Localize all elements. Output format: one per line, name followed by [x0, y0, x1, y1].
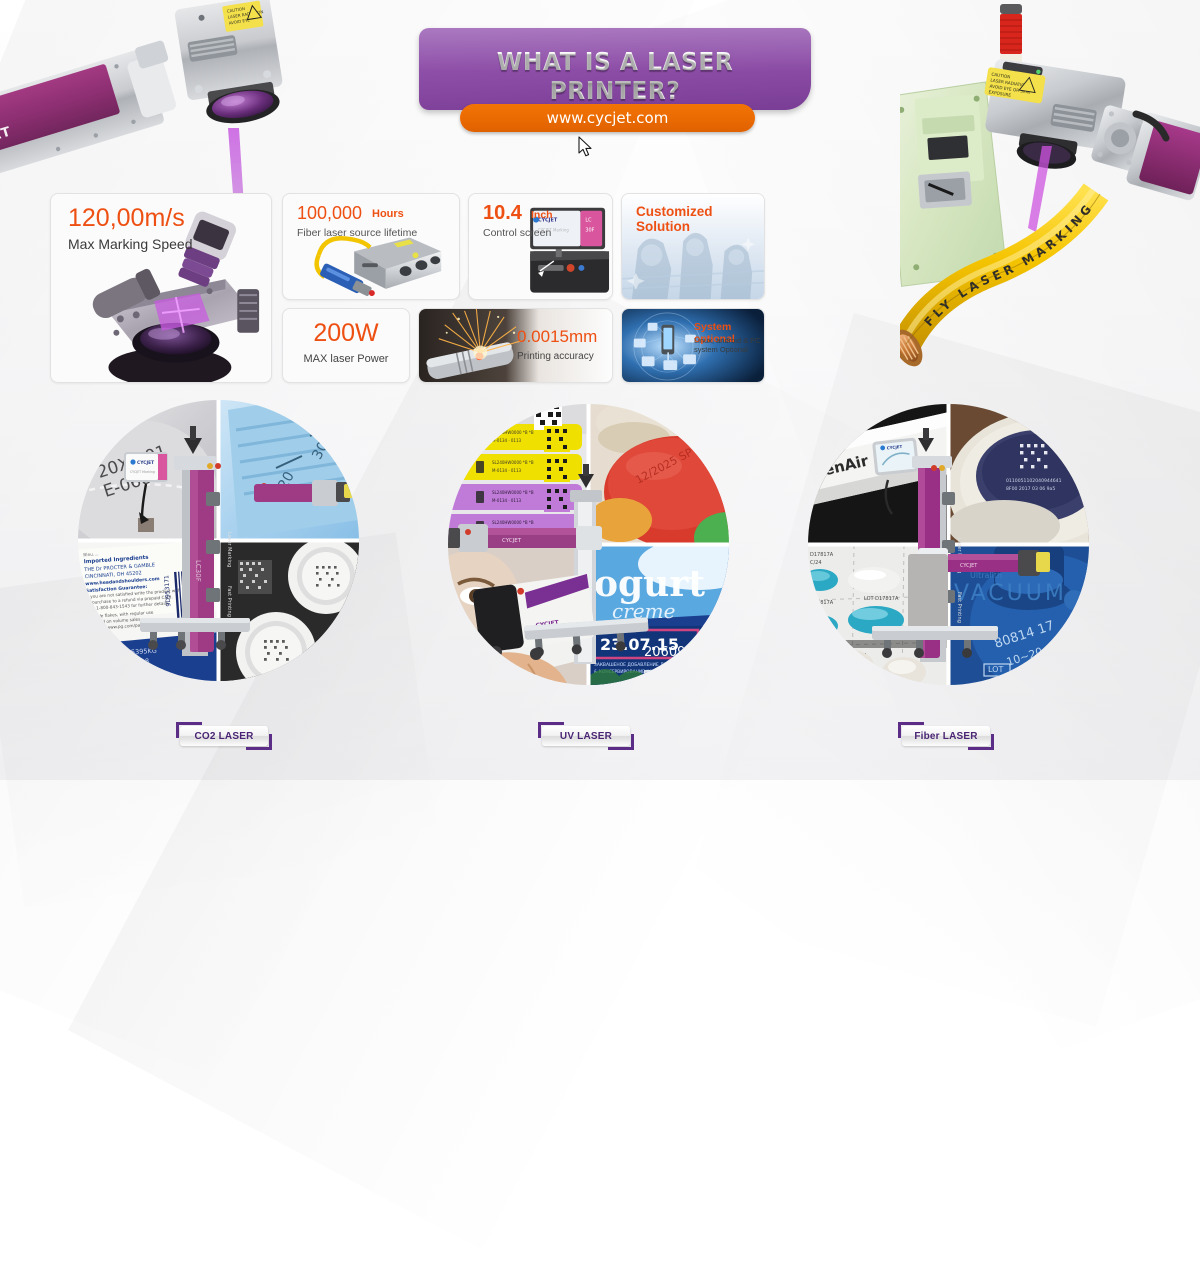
- spec-value: 200W: [283, 319, 409, 348]
- poster-canvas: CYCJET CAUTIONLA: [0, 0, 1200, 780]
- spec-label: MAX laser Power: [283, 353, 409, 365]
- mouse-cursor-icon: [578, 136, 594, 158]
- fly-laser-marking-machine-illustration: CAUTIONLASER RADIATION AVOID EYE OR SKIN…: [900, 0, 1200, 396]
- label-uv-laser[interactable]: UV LASER: [538, 722, 634, 750]
- spec-label: Fiber laser source lifetime: [297, 227, 417, 239]
- svg-text:CYCJET Marking: CYCJET Marking: [130, 470, 155, 474]
- svg-text:CYCJET: CYCJET: [960, 563, 978, 569]
- svg-text:Laser Marking: Laser Marking: [226, 532, 232, 567]
- svg-text:C/24: C/24: [810, 560, 822, 566]
- svg-text:Fast Printing: Fast Printing: [956, 592, 962, 623]
- spec-card-customized-solution[interactable]: Customized Solution: [621, 193, 765, 300]
- svg-text:Fast Printing: Fast Printing: [226, 586, 232, 617]
- svg-text:SL240HW0000 *B *B: SL240HW0000 *B *B: [492, 490, 534, 495]
- spec-value: 0.0015mm: [517, 327, 597, 347]
- label-text: UV LASER: [538, 722, 634, 750]
- product-circle-co2-laser[interactable]: 20XX.01 E-068 30 20: [78, 400, 359, 681]
- spec-card-max-laser-power[interactable]: 200W MAX laser Power: [282, 308, 410, 383]
- product-circle-uv-laser[interactable]: SL240HW0000 *B *BM-0134 · 0113 SL240HW00…: [448, 404, 729, 685]
- spec-value: 120,00m/s: [68, 204, 185, 233]
- spec-card-printing-accuracy[interactable]: 0.0015mm Printing accuracy: [418, 308, 613, 383]
- svg-text:M-0134 · 0113: M-0134 · 0113: [492, 498, 522, 503]
- svg-text:Ultralith: Ultralith: [970, 571, 1002, 580]
- svg-text:LOT D17817A: LOT D17817A: [864, 596, 899, 602]
- svg-text:VACUUM: VACUUM: [954, 581, 1067, 606]
- svg-text:8F00 2017 03 06 9a5: 8F00 2017 03 06 9a5: [1006, 486, 1055, 492]
- svg-text:SL240HW0000 *B *B: SL240HW0000 *B *B: [492, 520, 534, 525]
- label-text: CO2 LASER: [176, 722, 272, 750]
- svg-text:30F: 30F: [585, 227, 594, 233]
- svg-text:SL240HW0000 *B *B: SL240HW0000 *B *B: [492, 460, 534, 465]
- label-fiber-laser[interactable]: Fiber LASER: [898, 722, 994, 750]
- spec-label: Control screen: [483, 227, 551, 239]
- spec-card-control-screen[interactable]: CYCJET CYCJET Marking LC30F 10.4 Inch Co…: [468, 193, 613, 300]
- spec-label: Printing accuracy: [517, 351, 594, 362]
- svg-text:CYCJET: CYCJET: [502, 538, 522, 544]
- spec-value: Customized Solution: [636, 204, 764, 234]
- page-title: WHAT IS A LASER PRINTER?: [433, 47, 798, 105]
- spec-unit: Inch: [531, 209, 553, 221]
- website-url-pill[interactable]: www.cycjet.com: [460, 104, 755, 132]
- spec-label: Linux, android & PC system Optional: [694, 336, 764, 355]
- svg-text:0110051102040944641: 0110051102040944641: [1006, 478, 1062, 484]
- spec-unit: Hours: [372, 208, 404, 220]
- spec-card-laser-source-lifetime[interactable]: 100,000 Hours Fiber laser source lifetim…: [282, 193, 460, 300]
- svg-text:D17817A: D17817A: [810, 552, 834, 558]
- spec-value: 10.4: [483, 202, 522, 225]
- svg-text:LC: LC: [585, 218, 592, 224]
- svg-text:M-0134 · 0113: M-0134 · 0113: [492, 438, 522, 443]
- svg-text:M-0134 · 0113: M-0134 · 0113: [492, 468, 522, 473]
- label-text: Fiber LASER: [898, 722, 994, 750]
- spec-card-max-marking-speed[interactable]: 120,00m/s Max Marking Speed: [50, 193, 272, 383]
- svg-text:LOT: LOT: [988, 665, 1003, 674]
- label-co2-laser[interactable]: CO2 LASER: [176, 722, 272, 750]
- svg-text:LC30F: LC30F: [194, 560, 202, 582]
- spec-card-system-optional[interactable]: System optional Linux, android & PC syst…: [621, 308, 765, 383]
- svg-text:CYCJET: CYCJET: [137, 460, 154, 466]
- svg-text:Bleu....: Bleu....: [83, 551, 99, 558]
- spec-card-grid: 120,00m/s Max Marking Speed: [50, 193, 765, 383]
- header-banner: WHAT IS A LASER PRINTER?: [419, 28, 811, 110]
- spec-value: 100,000: [297, 203, 362, 224]
- spec-label: Max Marking Speed: [68, 236, 193, 252]
- product-circle-fiber-laser[interactable]: venAir EX-... CYCJET: [808, 404, 1089, 685]
